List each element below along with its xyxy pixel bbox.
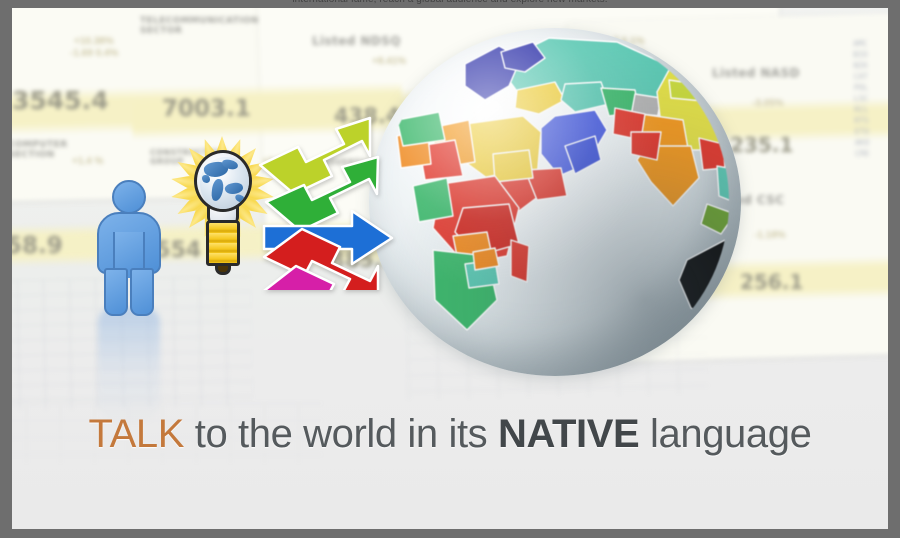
person-leg-right — [130, 268, 154, 316]
report-number: 7003.1 — [162, 96, 251, 122]
region-sea-red — [699, 138, 725, 170]
ticker-symbol-column: AMC BIO NIK CAT POL LSC RCL RTS ETO AKO … — [853, 38, 870, 159]
political-world-globe — [369, 28, 741, 376]
bulb-tip — [215, 263, 231, 275]
person-head — [112, 180, 146, 214]
headline-mid-2: language — [639, 412, 811, 456]
report-number: 3545.4 — [12, 86, 108, 115]
report-percentage: +10.38% — [74, 36, 114, 47]
region-australia — [679, 240, 741, 324]
report-percentage: +1.4 % — [72, 156, 103, 167]
region-indonesia — [701, 204, 735, 234]
slide-canvas: AMC BIO NIK CAT POL LSC RCL RTS ETO AKO … — [12, 8, 888, 529]
region-zambia-orange — [473, 248, 499, 270]
bulb-globe-landmass — [234, 194, 246, 204]
region-europe-teal — [561, 82, 609, 112]
headline-word-native: NATIVE — [498, 412, 639, 456]
bulb-globe-landmass — [211, 178, 224, 201]
region-west-coast-green — [413, 178, 453, 222]
person-leg-left — [104, 268, 128, 316]
report-percentage: -1.18% — [754, 230, 786, 241]
globe-inside-bulb — [200, 157, 252, 211]
report-percentage: -1.69 0.4% — [70, 48, 118, 59]
person-reflection — [98, 308, 160, 426]
bulb-screw-base — [206, 220, 240, 266]
arrow-fan — [258, 90, 408, 290]
headline-mid-1: to the world in its — [184, 412, 498, 456]
lightbulb-icon — [174, 136, 270, 284]
top-caption-text: international fame, reach a global audie… — [0, 0, 900, 4]
report-label: TELECOMMUNICATION — [140, 16, 259, 26]
report-label: COMPUTER — [12, 140, 68, 150]
page-title: TALK to the world in its NATIVE language — [12, 412, 888, 457]
report-percentage: -3.05% — [752, 98, 784, 109]
bulb-glass — [194, 150, 252, 212]
headline-word-talk: TALK — [89, 412, 184, 456]
report-number: 256.1 — [740, 270, 803, 294]
region-sea-teal — [717, 166, 739, 204]
video-frame: international fame, reach a global audie… — [0, 0, 900, 538]
region-madagascar — [511, 240, 529, 282]
region-mongolia — [669, 80, 713, 102]
report-label: SECTION — [12, 150, 55, 160]
person-pictogram — [94, 180, 164, 310]
region-pakistan — [631, 132, 661, 160]
report-number: 58.9 — [12, 233, 63, 259]
report-label: SECTOR — [140, 26, 182, 36]
bulb-globe-landmass — [202, 175, 210, 183]
region-sudan-yellow — [493, 150, 533, 182]
bulb-globe-landmass — [224, 181, 244, 196]
